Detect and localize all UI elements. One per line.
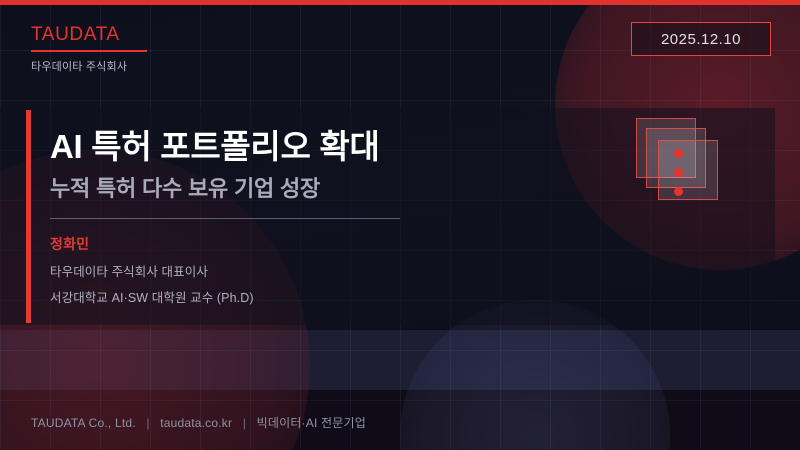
dot-icon-1: [674, 149, 683, 158]
content-divider: [50, 218, 400, 219]
brand-block: TAUDATA 타우데이타 주식회사: [31, 25, 251, 74]
top-accent-bar: [0, 0, 800, 5]
footer-separator-2: |: [236, 416, 253, 430]
speaker-affiliation-1: 타우데이타 주식회사 대표이사: [50, 261, 550, 280]
page-subtitle: 누적 특허 다수 보유 기업 성장: [50, 175, 550, 203]
date-badge-value: 2025.12.10: [661, 31, 741, 48]
left-accent-bar: [26, 110, 31, 323]
square-front-icon: [658, 140, 718, 200]
footer: TAUDATA Co., Ltd. | taudata.co.kr | 빅데이터…: [31, 414, 366, 431]
main-content: AI 특허 포트폴리오 확대 누적 특허 다수 보유 기업 성장 정화민 타우데…: [50, 108, 550, 306]
footer-separator-1: |: [139, 416, 156, 430]
brand-underline: [31, 50, 147, 52]
footer-website: taudata.co.kr: [160, 416, 232, 430]
speaker-affiliation-2: 서강대학교 AI·SW 대학원 교수 (Ph.D): [50, 287, 550, 306]
footer-company: TAUDATA Co., Ltd.: [31, 416, 136, 430]
dot-icon-2: [674, 168, 683, 177]
date-badge: 2025.12.10: [631, 22, 771, 56]
footer-tagline: 빅데이터·AI 전문기업: [257, 416, 366, 430]
brand-subtitle: 타우데이타 주식회사: [31, 58, 251, 74]
page-title: AI 특허 포트폴리오 확대: [50, 127, 550, 167]
dot-icon-3: [674, 187, 683, 196]
title-slide: TAUDATA 타우데이타 주식회사 2025.12.10 AI 특허 포트폴리…: [0, 0, 800, 450]
brand-name: TAUDATA: [31, 25, 251, 46]
stacked-squares-glyph: [636, 118, 726, 206]
speaker-name: 정화민: [50, 234, 550, 254]
